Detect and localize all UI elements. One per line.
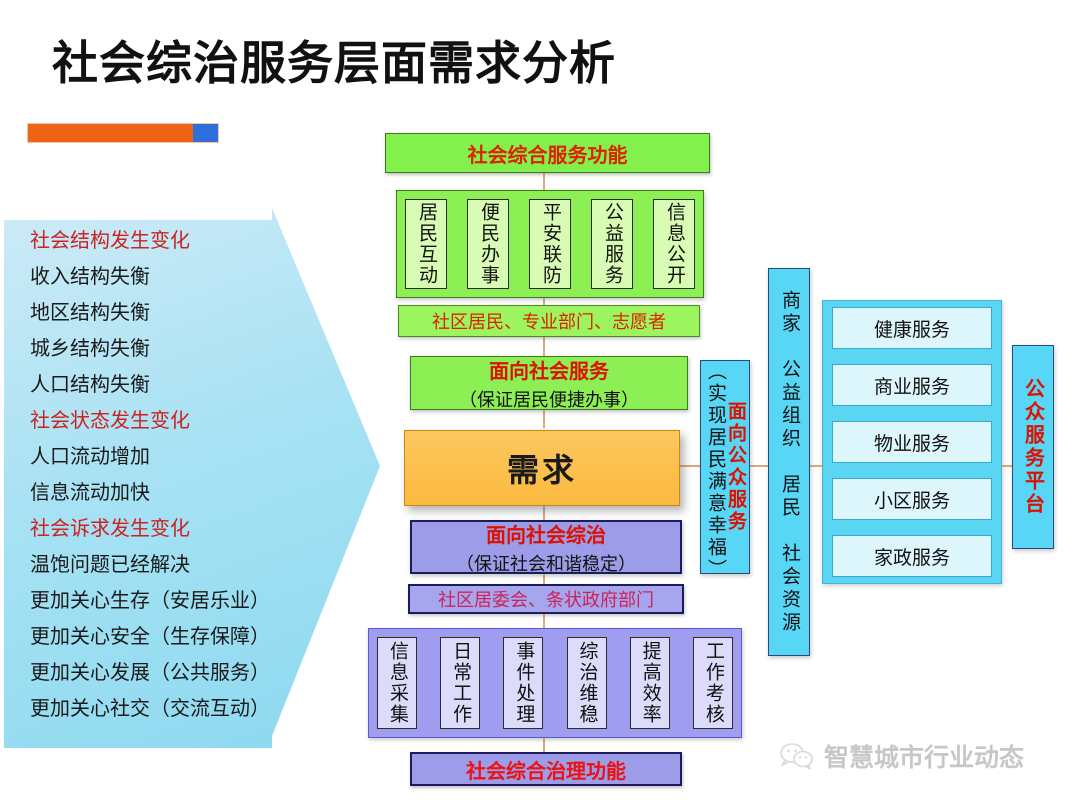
governance-function-panel: 信息采集 日常工作 事件处理 综治维稳 提高效率 工作考核 <box>368 628 742 738</box>
service-actors: 社区居民、专业部门、志愿者 <box>398 305 700 337</box>
governance-function-card[interactable]: 提高效率 <box>630 637 670 729</box>
driver-item: 人口结构失衡 <box>30 366 300 402</box>
drivers-list: 社会结构发生变化 收入结构失衡 地区结构失衡 城乡结构失衡 人口结构失衡 社会状… <box>30 222 300 726</box>
public-services-panel: 健康服务 商业服务 物业服务 小区服务 家政服务 <box>822 300 1002 584</box>
governance-orientation-box: 面向社会综治 （保证社会和谐稳定） <box>410 520 682 574</box>
service-function-card[interactable]: 便民办事 <box>467 199 509 289</box>
accent-bar <box>28 124 218 142</box>
connector-vertical <box>543 170 545 192</box>
service-function-card[interactable]: 信息公开 <box>653 199 695 289</box>
public-orientation-title: 面向公众服务 <box>725 401 745 533</box>
service-orientation-box: 面向社会服务 （保证居民便捷办事） <box>410 356 688 410</box>
service-orientation-title: 面向社会服务 <box>489 355 609 384</box>
driver-item: 更加关心生存（安居乐业） <box>30 582 300 618</box>
driver-item: 更加关心社交（交流互动） <box>30 690 300 726</box>
watermark: 智慧城市行业动态 <box>780 738 1024 774</box>
driver-item: 地区结构失衡 <box>30 294 300 330</box>
public-service-item[interactable]: 商业服务 <box>832 364 992 406</box>
driver-item: 人口流动增加 <box>30 438 300 474</box>
governance-orientation-sub: （保证社会和谐稳定） <box>456 550 636 576</box>
public-service-item[interactable]: 小区服务 <box>832 478 992 520</box>
driver-item: 温饱问题已经解决 <box>30 546 300 582</box>
public-service-item[interactable]: 健康服务 <box>832 307 992 349</box>
service-function-card[interactable]: 公益服务 <box>591 199 633 289</box>
governance-function-card[interactable]: 日常工作 <box>440 637 480 729</box>
driver-item: 社会诉求发生变化 <box>30 510 300 546</box>
governance-function-card[interactable]: 事件处理 <box>503 637 543 729</box>
service-orientation-sub: （保证居民便捷办事） <box>459 386 639 412</box>
service-function-card[interactable]: 居民互动 <box>405 199 447 289</box>
governance-function-card[interactable]: 信息采集 <box>377 637 417 729</box>
governance-function-card[interactable]: 工作考核 <box>693 637 733 729</box>
public-resources: 商家 公益组织 居民 社会资源 <box>768 268 810 656</box>
service-function-card[interactable]: 平安联防 <box>529 199 571 289</box>
governance-function-card[interactable]: 综治维稳 <box>567 637 607 729</box>
accent-bar-blue-segment <box>193 124 218 142</box>
demand-box: 需求 <box>404 430 680 506</box>
governance-function-footer: 社会综合治理功能 <box>410 752 682 786</box>
public-service-item[interactable]: 家政服务 <box>832 535 992 577</box>
page-title: 社会综治服务层面需求分析 <box>52 38 616 89</box>
watermark-text: 智慧城市行业动态 <box>824 738 1024 774</box>
driver-item: 收入结构失衡 <box>30 258 300 294</box>
demand-label: 需求 <box>507 445 577 491</box>
public-service-platform: 公众服务平台 <box>1012 345 1054 549</box>
service-function-header: 社会综合服务功能 <box>385 133 710 173</box>
driver-item: 更加关心发展（公共服务） <box>30 654 300 690</box>
driver-item: 城乡结构失衡 <box>30 330 300 366</box>
public-orientation-box: 面向公众服务 （实现居民满意幸福） <box>700 360 750 574</box>
driver-item: 信息流动加快 <box>30 474 300 510</box>
governance-actors: 社区居委会、条状政府部门 <box>408 584 684 614</box>
public-orientation-sub: （实现居民满意幸福） <box>705 361 725 573</box>
public-service-item[interactable]: 物业服务 <box>832 421 992 463</box>
driver-item: 社会状态发生变化 <box>30 402 300 438</box>
driver-item: 更加关心安全（生存保障） <box>30 618 300 654</box>
governance-orientation-title: 面向社会综治 <box>486 519 606 548</box>
service-function-panel: 居民互动 便民办事 平安联防 公益服务 信息公开 <box>396 190 704 298</box>
connector-horizontal <box>748 465 770 467</box>
accent-bar-orange-segment <box>28 124 193 142</box>
wechat-icon <box>780 742 814 770</box>
driver-item: 社会结构发生变化 <box>30 222 300 258</box>
